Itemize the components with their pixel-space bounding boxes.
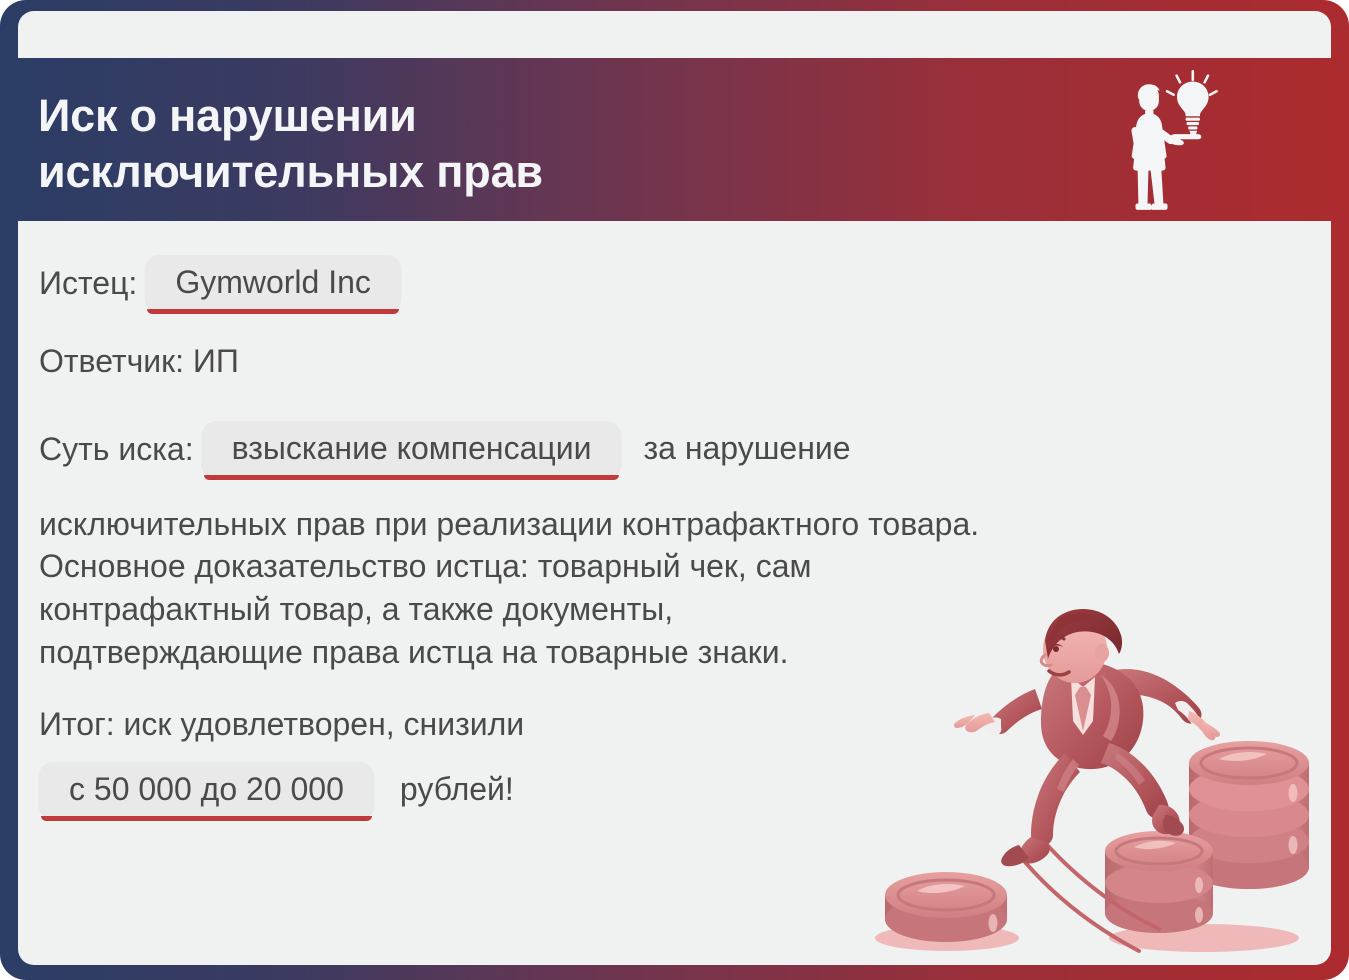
plaintiff-row: Истец:Gymworld Inc: [39, 255, 1159, 311]
compensation-amount-chip[interactable]: с 50 000 до 20 000: [39, 762, 374, 818]
currency-label: рублей!: [400, 771, 514, 807]
man-with-lightbulb-icon: [1091, 64, 1241, 214]
case-details: Истец:Gymworld Inc Ответчик: ИП Суть иск…: [39, 221, 1159, 818]
result-amount-row: с 50 000 до 20 000рублей!: [39, 762, 1159, 818]
card-top-strip: [18, 11, 1331, 58]
claim-row: Суть иска:взыскание компенсацииза наруше…: [39, 421, 1159, 477]
claim-after-chip-text: за нарушение: [643, 430, 850, 466]
result-text: Итог: иск удовлетворен, снизили: [39, 704, 1159, 746]
card-body: Истец:Gymworld Inc Ответчик: ИП Суть иск…: [18, 221, 1331, 965]
claim-label: Суть иска:: [39, 430, 194, 466]
plaintiff-label: Истец:: [39, 265, 137, 301]
claim-tail-text: исключительных прав при реализации контр…: [39, 503, 1069, 546]
case-summary-card: Иск о нарушении исключительных прав: [0, 0, 1349, 980]
defendant-row: Ответчик: ИП: [39, 341, 1159, 383]
plaintiff-chip[interactable]: Gymworld Inc: [145, 255, 401, 311]
claim-type-chip[interactable]: взыскание компенсации: [202, 421, 622, 477]
card-header: Иск о нарушении исключительных прав: [0, 58, 1349, 221]
evidence-text: Основное доказательство истца: товарный …: [39, 545, 889, 674]
page-title: Иск о нарушении исключительных прав: [38, 88, 738, 200]
